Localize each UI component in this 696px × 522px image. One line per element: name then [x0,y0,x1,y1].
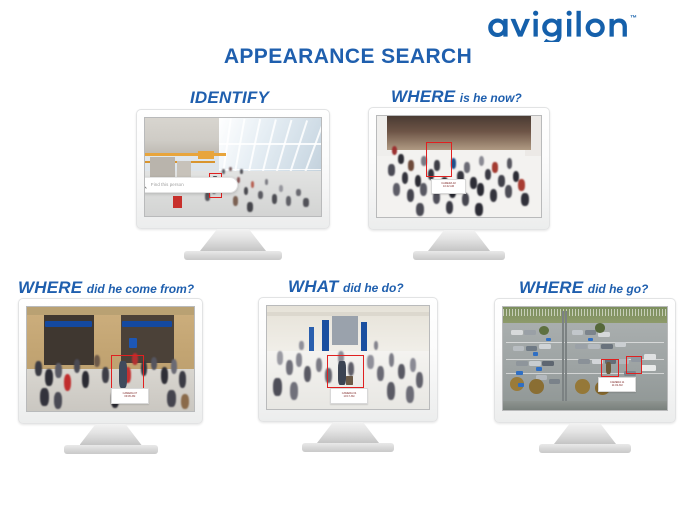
monitor-stand-base [64,445,158,454]
caption-where-now-rest: is he now? [460,91,522,105]
monitor-stand-neck [80,424,142,445]
search-input-placeholder[interactable]: Find this person [151,182,184,187]
scene-train-station: CAMERA 07 09:45 AM [27,307,194,411]
monitor-stand-base [302,443,394,452]
search-icon [144,181,147,189]
subject-bounding-box [426,142,452,176]
monitor-bezel: CAMERA 07 09:45 AM [18,298,203,424]
slide-canvas: ™ APPEARANCE SEARCH IDENTIFY [0,0,696,522]
monitor-stand-base [413,251,505,260]
avigilon-wordmark-icon: ™ [487,10,687,42]
scene-crowd-plaza: CAMERA 02 10:42 AM [377,116,541,217]
caption-where-go-strong: WHERE [519,278,583,297]
monitor-stand-base [539,444,631,453]
monitor-bezel: CAMERA 11 11:03 AM [494,298,676,423]
pedestrian-layer [377,116,541,217]
caption-where-from-rest: did he come from? [87,282,194,296]
caption-where-now: WHERE is he now? [391,87,522,107]
scene-concourse: CAMERA 04 10:17 AM [267,306,429,409]
tooltip-line-2: 10:42 AM [443,186,454,189]
monitor-bezel: Find this person [136,109,330,229]
monitor-screen-what-do[interactable]: CAMERA 04 10:17 AM [266,305,430,410]
subject-figure [606,362,611,374]
secondary-bounding-box [626,356,642,374]
monitor-screen-identify[interactable]: Find this person [144,117,322,217]
caption-identify: IDENTIFY [190,88,269,108]
caption-what-do-rest: did he do? [343,281,404,295]
caption-what-do: WHAT did he do? [288,277,404,297]
caption-where-from: WHERE did he come from? [18,278,194,298]
monitor-identify: Find this person [136,109,330,260]
monitor-stand-neck [317,422,379,443]
monitor-stand-neck [428,230,490,251]
monitor-screen-where-go[interactable]: CAMERA 11 11:03 AM [502,306,668,411]
monitor-stand-neck [554,423,616,444]
scene-parking-lot: CAMERA 11 11:03 AM [503,307,667,410]
caption-where-now-strong: WHERE [391,87,455,106]
trademark-symbol: ™ [630,15,637,22]
caption-where-from-strong: WHERE [18,278,82,297]
caption-what-do-strong: WHAT [288,277,339,296]
subject-figure [119,361,127,388]
pedestrian-layer [145,118,321,216]
page-title: APPEARANCE SEARCH [0,45,696,69]
event-tooltip: CAMERA 02 10:42 AM [431,179,466,194]
tooltip-line-2: 10:17 AM [344,396,355,399]
caption-where-go: WHERE did he go? [519,278,648,298]
tooltip-line-2: 11:03 AM [612,385,623,388]
event-tooltip: CAMERA 11 11:03 AM [598,377,636,392]
event-tooltip: CAMERA 04 10:17 AM [330,388,368,403]
avigilon-logo: ™ [487,10,687,42]
subject-figure [338,361,345,386]
monitor-bezel: CAMERA 04 10:17 AM [258,297,438,422]
tooltip-line-2: 09:45 AM [124,396,135,399]
monitor-stand-neck [200,229,266,251]
caption-identify-strong: IDENTIFY [190,88,269,107]
appearance-search-bar[interactable]: Find this person [144,177,238,193]
perimeter-fence [503,309,667,316]
monitor-where-from: CAMERA 07 09:45 AM [18,298,203,454]
caption-where-go-rest: did he go? [588,282,649,296]
monitor-screen-where-now[interactable]: CAMERA 02 10:42 AM [376,115,542,218]
monitor-stand-base [184,251,282,260]
monitor-screen-where-from[interactable]: CAMERA 07 09:45 AM [26,306,195,412]
monitor-what-do: CAMERA 04 10:17 AM [258,297,438,452]
monitor-bezel: CAMERA 02 10:42 AM [368,107,550,230]
event-tooltip: CAMERA 07 09:45 AM [111,388,150,404]
subject-bag [346,376,352,385]
scene-airport-terminal [145,118,321,216]
monitor-where-go: CAMERA 11 11:03 AM [494,298,676,453]
monitor-where-now: CAMERA 02 10:42 AM [368,107,550,260]
light-post [562,311,564,410]
light-post [565,311,567,410]
